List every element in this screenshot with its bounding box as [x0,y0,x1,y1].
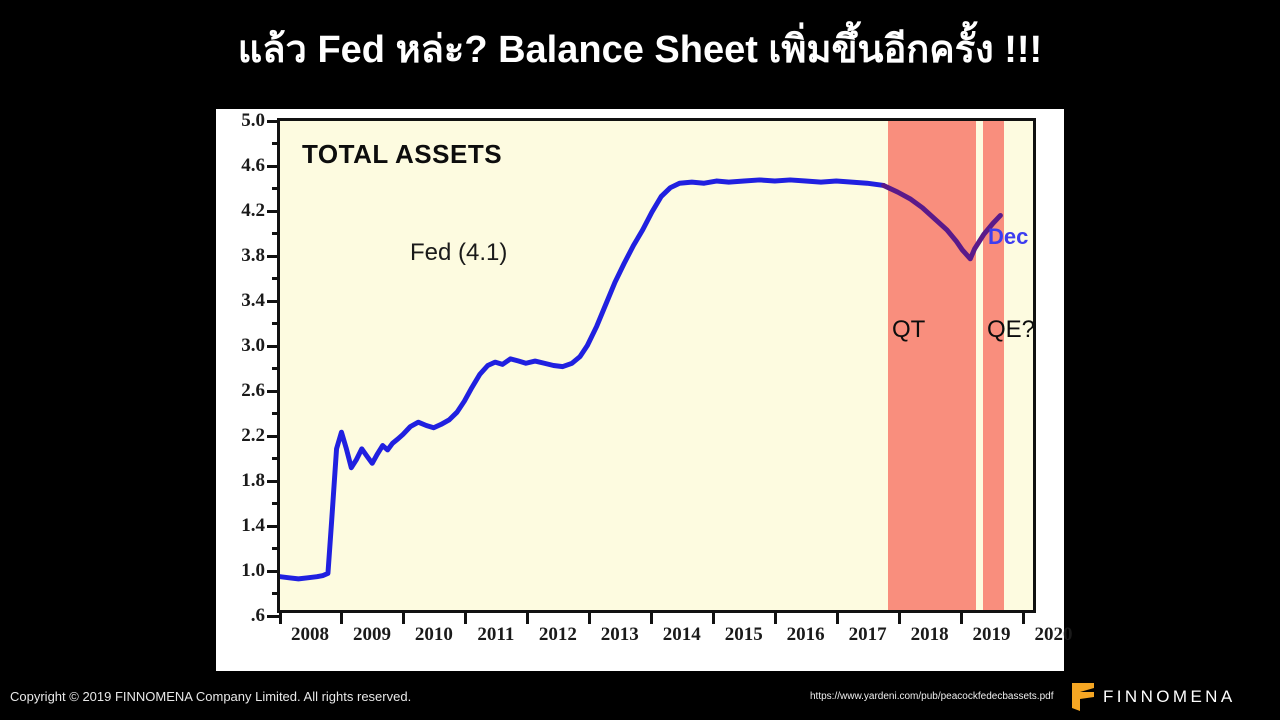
x-tick-label: 2012 [539,624,577,646]
series-value-annotation: Fed (4.1) [410,239,507,267]
y-tick-major [267,165,280,168]
brand-wordmark: FINNOMENA [1103,687,1236,707]
footer-copyright: Copyright © 2019 FINNOMENA Company Limit… [10,689,411,704]
series-endpoint-label: Dec [988,224,1028,250]
chart-panel: TOTAL ASSETS Fed (4.1) QT QE? Dec 5.04.6… [216,109,1064,671]
y-tick-minor [272,367,280,370]
x-tick [1022,610,1025,624]
y-tick-minor [272,142,280,145]
x-tick [898,610,901,624]
y-tick-label: 1.0 [241,560,265,582]
x-tick-label: 2011 [477,624,514,646]
y-tick-minor [272,457,280,460]
x-tick-label: 2009 [353,624,391,646]
y-tick-major [267,390,280,393]
x-tick [279,610,282,624]
y-tick-minor [272,592,280,595]
x-tick-label: 2017 [849,624,887,646]
brand-logo: FINNOMENA [1072,682,1236,712]
chart-heading: TOTAL ASSETS [302,139,502,170]
x-tick-label: 2015 [725,624,763,646]
x-tick [960,610,963,624]
y-tick-label: 1.4 [241,515,265,537]
x-tick [340,610,343,624]
x-tick [464,610,467,624]
series-line-fed-total-assets [280,121,1033,610]
chart-plot-area: TOTAL ASSETS Fed (4.1) QT QE? Dec [280,121,1033,610]
x-tick [402,610,405,624]
y-tick-minor [272,187,280,190]
y-tick-major [267,345,280,348]
y-tick-label: .6 [251,605,265,627]
x-tick-label: 2020 [1035,624,1073,646]
x-tick-label: 2016 [787,624,825,646]
y-tick-label: 4.2 [241,200,265,222]
chart-plot-frame: TOTAL ASSETS Fed (4.1) QT QE? Dec 5.04.6… [277,118,1036,613]
footer-source-url[interactable]: https://www.yardeni.com/pub/peacockfedec… [810,691,1053,702]
y-tick-major [267,525,280,528]
y-tick-major [267,120,280,123]
y-tick-label: 1.8 [241,470,265,492]
y-tick-label: 2.2 [241,425,265,447]
y-tick-label: 3.8 [241,245,265,267]
x-tick-label: 2008 [291,624,329,646]
x-tick [588,610,591,624]
x-tick [836,610,839,624]
y-tick-major [267,480,280,483]
x-tick-label: 2014 [663,624,701,646]
finnomena-f-mark-icon [1072,683,1094,711]
y-tick-minor [272,232,280,235]
page-title: แล้ว Fed หล่ะ? Balance Sheet เพิ่มขึ้นอี… [0,26,1280,74]
x-tick-label: 2013 [601,624,639,646]
x-tick-label: 2010 [415,624,453,646]
x-tick [650,610,653,624]
y-tick-label: 5.0 [241,110,265,132]
x-tick [774,610,777,624]
y-tick-label: 2.6 [241,380,265,402]
y-tick-major [267,570,280,573]
x-tick-label: 2018 [911,624,949,646]
y-tick-major [267,300,280,303]
y-tick-label: 4.6 [241,155,265,177]
y-tick-label: 3.0 [241,335,265,357]
y-tick-minor [272,412,280,415]
y-tick-minor [272,502,280,505]
band-label-qe: QE? [987,316,1033,344]
y-tick-label: 3.4 [241,290,265,312]
y-tick-major [267,210,280,213]
x-tick-label: 2019 [973,624,1011,646]
y-tick-minor [272,277,280,280]
y-tick-minor [272,322,280,325]
band-label-qt: QT [892,316,925,344]
y-tick-minor [272,547,280,550]
y-tick-major [267,255,280,258]
y-tick-major [267,435,280,438]
x-tick [526,610,529,624]
x-tick [712,610,715,624]
